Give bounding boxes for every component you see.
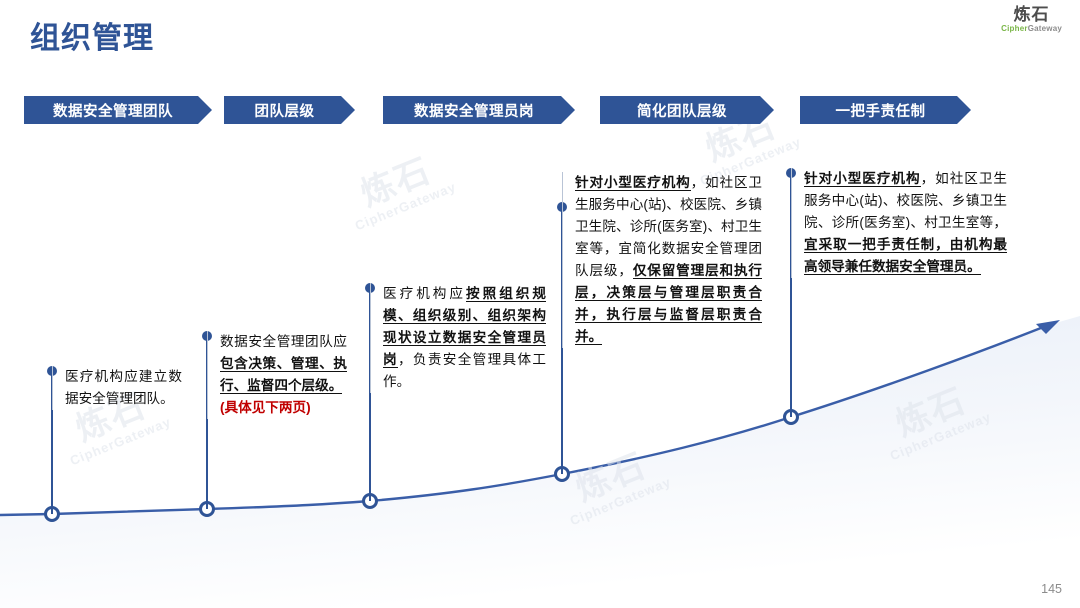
chevron-banner-1[interactable]: 团队层级 <box>224 96 355 124</box>
callout-text-3: 针对小型医疗机构，如社区卫生服务中心(站)、校医院、乡镇卫生院、诊所(医务室)、… <box>562 172 762 348</box>
callout-text-2: 医疗机构应按照组织规模、组织级别、组织架构现状设立数据安全管理员岗，负责安全管理… <box>370 283 546 393</box>
brand-logo-en-b: Gateway <box>1028 24 1062 33</box>
callout-text-0: 医疗机构应建立数据安全管理团队。 <box>52 366 182 410</box>
chevron-banner-3[interactable]: 简化团队层级 <box>600 96 774 124</box>
page-number: 145 <box>1041 582 1062 596</box>
brand-logo: 炼石 CipherGateway <box>1001 6 1062 33</box>
callout-text-4: 针对小型医疗机构，如社区卫生服务中心(站)、校医院、乡镇卫生院、诊所(医务室)、… <box>791 168 1007 278</box>
brand-logo-en: CipherGateway <box>1001 25 1062 33</box>
chevron-banner-2[interactable]: 数据安全管理员岗 <box>383 96 575 124</box>
brand-logo-cn: 炼石 <box>1001 6 1062 24</box>
chevron-banner-0[interactable]: 数据安全管理团队 <box>24 96 212 124</box>
chevron-banner-4[interactable]: 一把手责任制 <box>800 96 971 124</box>
slide-canvas: 炼石 CipherGateway 炼石 CipherGateway 炼石 Cip… <box>0 0 1080 608</box>
page-title: 组织管理 <box>30 13 154 57</box>
brand-logo-en-a: Cipher <box>1001 24 1028 33</box>
callout-text-1: 数据安全管理团队应包含决策、管理、执行、监督四个层级。(具体见下两页) <box>207 331 347 419</box>
